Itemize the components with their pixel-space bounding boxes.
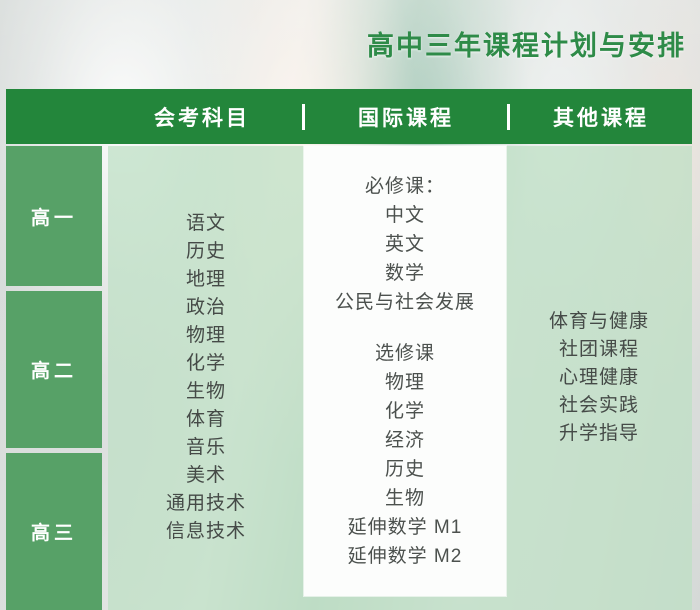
list-item: 物理 <box>186 322 226 350</box>
list-item: 经济 <box>385 426 425 455</box>
list-item: 体育与健康 <box>549 308 649 336</box>
list-item: 社会实践 <box>559 392 639 420</box>
list-item: 公民与社会发展 <box>335 288 475 317</box>
list-item: 美术 <box>186 462 226 490</box>
header-international: 国际课程 <box>305 102 507 132</box>
title-band: 高中三年课程计划与安排 <box>0 0 700 86</box>
list-item: 地理 <box>186 266 226 294</box>
list-item: 化学 <box>385 397 425 426</box>
required-courses-heading: 必修课： <box>365 172 445 201</box>
column-exam-subjects: 语文 历史 地理 政治 物理 化学 生物 体育 音乐 美术 通用技术 信息技术 <box>108 146 304 610</box>
list-item: 化学 <box>186 350 226 378</box>
list-item: 延伸数学 M1 <box>348 513 463 542</box>
list-item: 历史 <box>385 455 425 484</box>
list-item: 生物 <box>385 484 425 513</box>
grade-cell-year1: 高一 <box>6 146 102 286</box>
column-international-courses: 必修课： 中文 英文 数学 公民与社会发展 选修课 物理 化学 经济 历史 生物… <box>304 146 506 596</box>
grade-label-year3: 高三 <box>31 518 77 545</box>
grade-rail: 高一 高二 高三 <box>6 146 102 610</box>
list-item: 信息技术 <box>166 518 246 546</box>
course-plan-poster: 高中三年课程计划与安排 会考科目 国际课程 其他课程 高一 高二 高三 语文 历… <box>0 0 700 610</box>
header-exam-subjects: 会考科目 <box>102 102 302 132</box>
header-other-courses: 其他课程 <box>510 102 692 132</box>
list-item: 物理 <box>385 368 425 397</box>
column-header-bar: 会考科目 国际课程 其他课程 <box>6 89 692 144</box>
list-item: 延伸数学 M2 <box>348 542 463 571</box>
list-item: 社团课程 <box>559 336 639 364</box>
grade-cell-year3: 高三 <box>6 453 102 610</box>
list-item: 生物 <box>186 378 226 406</box>
grade-cell-year2: 高二 <box>6 291 102 448</box>
list-item: 数学 <box>385 259 425 288</box>
page-title: 高中三年课程计划与安排 <box>367 24 686 63</box>
elective-courses-heading: 选修课 <box>375 339 435 368</box>
grade-label-year1: 高一 <box>31 203 77 230</box>
list-item: 通用技术 <box>166 490 246 518</box>
list-item: 英文 <box>385 230 425 259</box>
grade-label-year2: 高二 <box>31 356 77 383</box>
list-item: 升学指导 <box>559 420 639 448</box>
body-area: 高一 高二 高三 语文 历史 地理 政治 物理 化学 生物 体育 音乐 美术 通… <box>6 146 692 610</box>
list-item: 音乐 <box>186 434 226 462</box>
list-item: 政治 <box>186 294 226 322</box>
column-other-courses: 体育与健康 社团课程 心理健康 社会实践 升学指导 <box>506 146 692 610</box>
list-item: 体育 <box>186 406 226 434</box>
list-item: 历史 <box>186 238 226 266</box>
list-item: 语文 <box>186 210 226 238</box>
list-item: 心理健康 <box>559 364 639 392</box>
list-item: 中文 <box>385 201 425 230</box>
